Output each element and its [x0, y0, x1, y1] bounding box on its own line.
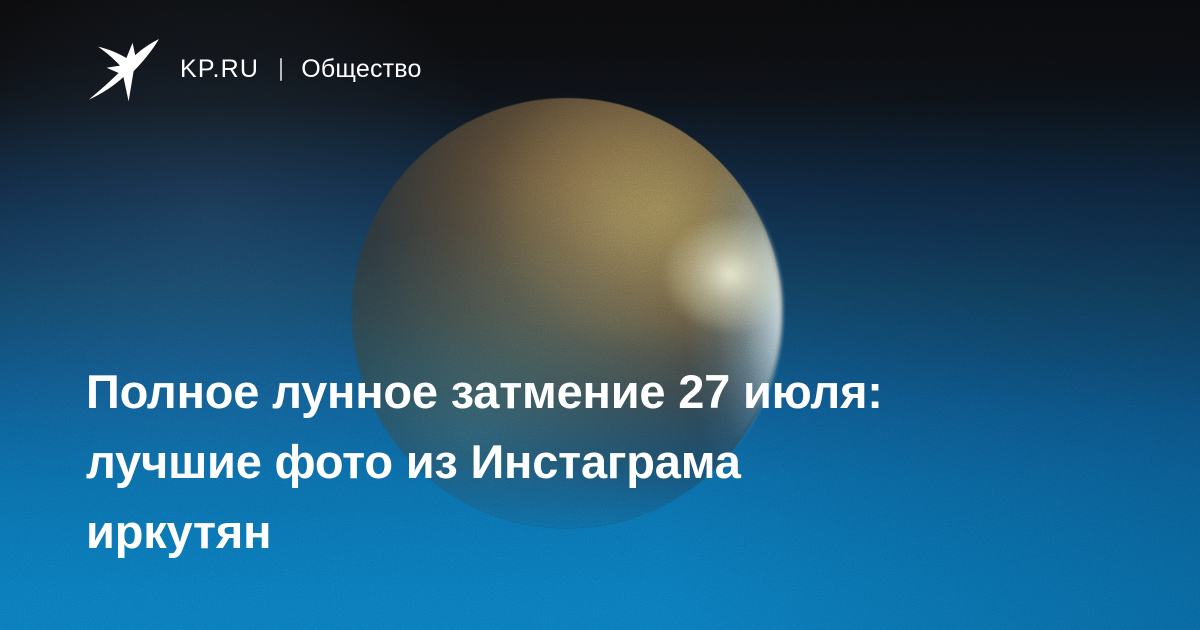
- headline-line-3: иркутян: [86, 497, 1096, 567]
- headline-line-2: лучшие фото из Инстаграма: [86, 427, 1096, 497]
- brand-name[interactable]: KP.RU: [180, 57, 259, 82]
- card-header: KP.RU Общество: [88, 36, 422, 102]
- header-divider: [280, 58, 282, 81]
- rubric-label[interactable]: Общество: [301, 57, 421, 82]
- headline-line-1: Полное лунное затмение 27 июля:: [86, 357, 1096, 427]
- headline: Полное лунное затмение 27 июля: лучшие ф…: [86, 357, 1096, 567]
- share-card: KP.RU Общество Полное лунное затмение 27…: [0, 0, 1200, 630]
- kp-swallow-bird-icon[interactable]: [88, 36, 160, 102]
